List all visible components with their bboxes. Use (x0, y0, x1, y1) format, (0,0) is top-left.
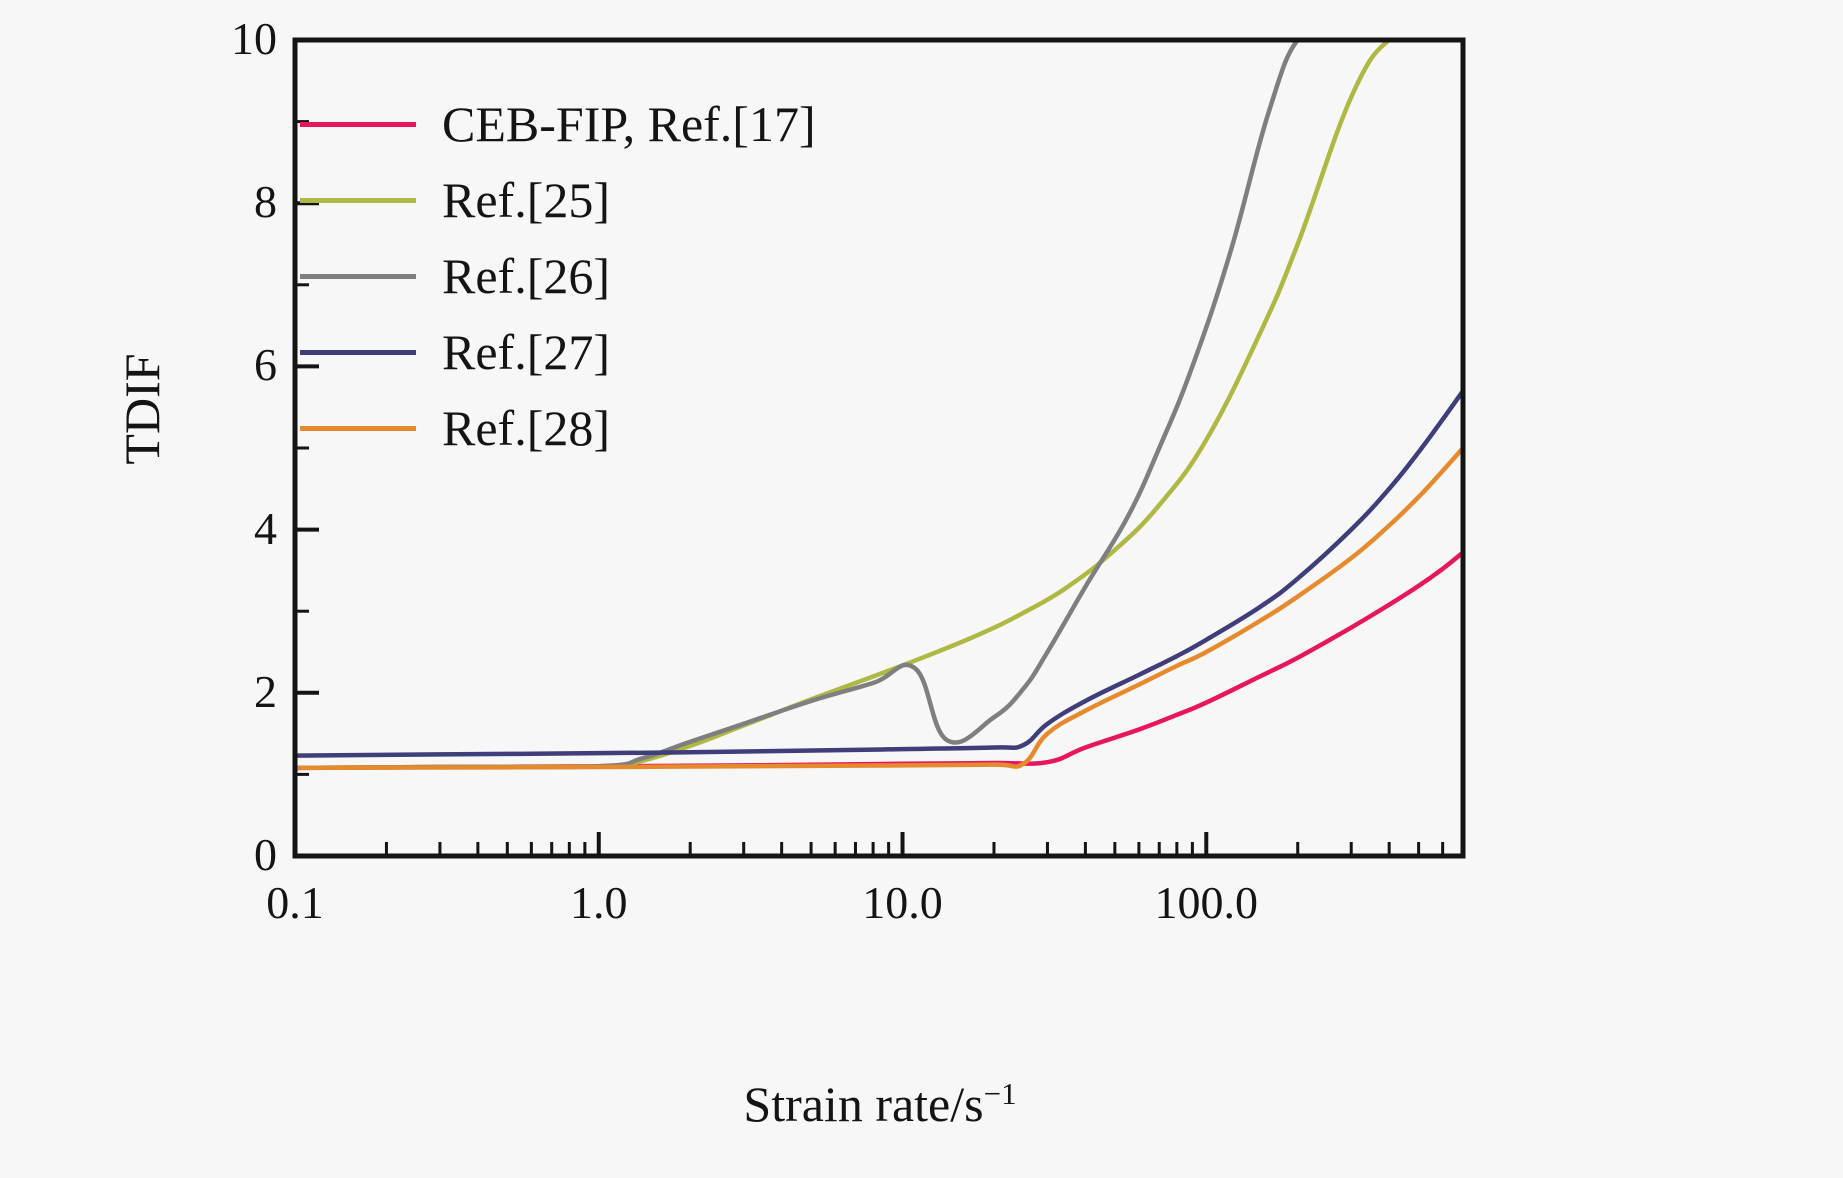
legend-label: CEB-FIP, Ref.[17] (442, 99, 816, 149)
chart-figure: 1086420 0.11.010.0100.0 TDIF Strain rate… (0, 0, 1843, 1178)
y-tick-label: 10 (231, 16, 277, 62)
legend-label: Ref.[25] (442, 175, 610, 225)
legend-line-swatch (300, 350, 416, 355)
legend-label: Ref.[27] (442, 327, 610, 377)
x-axis-title: Strain rate/s−1 (295, 1075, 1465, 1133)
legend-label: Ref.[28] (442, 403, 610, 453)
y-tick-label: 0 (254, 832, 277, 878)
x-axis-title-base: Strain rate/s (743, 1076, 983, 1132)
legend-line-swatch (300, 274, 416, 279)
legend-item-1[interactable]: CEB-FIP, Ref.[17] (300, 86, 816, 162)
x-tick-label: 100.0 (1096, 880, 1316, 926)
chart-legend: CEB-FIP, Ref.[17]Ref.[25]Ref.[26]Ref.[27… (300, 86, 816, 466)
y-axis-title: TDIF (113, 259, 171, 559)
legend-line-swatch (300, 198, 416, 203)
legend-item-3[interactable]: Ref.[26] (300, 238, 816, 314)
x-tick-label: 1.0 (489, 880, 709, 926)
y-tick-label: 2 (254, 669, 277, 715)
series-line-5 (295, 448, 1463, 768)
legend-item-4[interactable]: Ref.[27] (300, 314, 816, 390)
legend-line-swatch (300, 122, 416, 127)
y-tick-label: 6 (254, 342, 277, 388)
legend-item-5[interactable]: Ref.[28] (300, 390, 816, 466)
legend-line-swatch (300, 426, 416, 431)
x-axis-title-exponent: −1 (984, 1076, 1017, 1111)
x-tick-label: 0.1 (185, 880, 405, 926)
x-tick-label: 10.0 (793, 880, 1013, 926)
legend-label: Ref.[26] (442, 251, 610, 301)
y-tick-label: 4 (254, 506, 277, 552)
legend-item-2[interactable]: Ref.[25] (300, 162, 816, 238)
y-tick-label: 8 (254, 179, 277, 225)
